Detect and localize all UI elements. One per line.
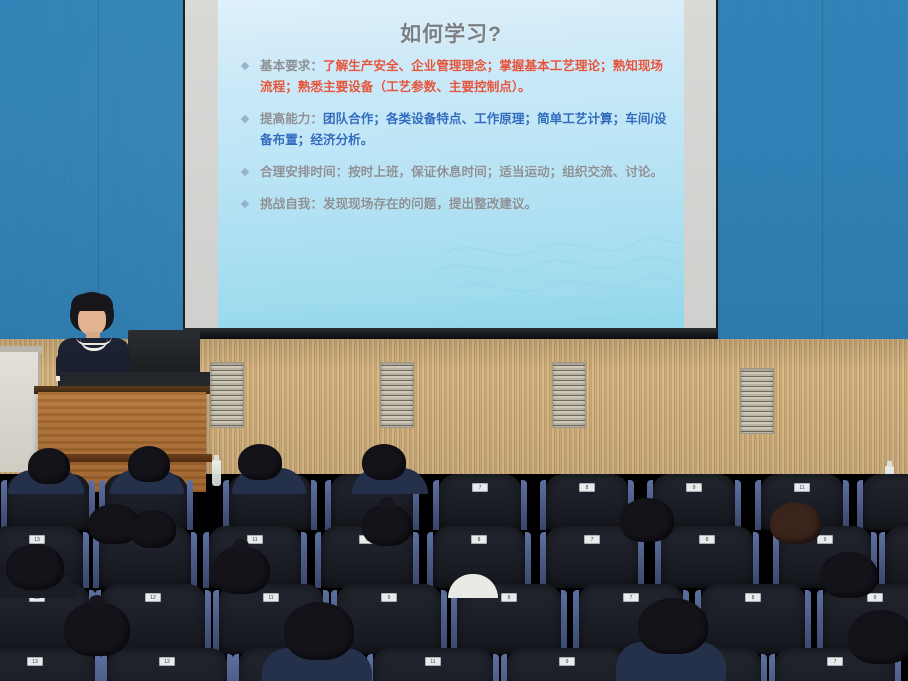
wall-seam (98, 0, 99, 341)
slide-bullet-1: 基本要求：了解生产安全、企业管理理念；掌握基本工艺理论；熟知现场流程；熟悉主要设… (236, 56, 670, 98)
seat-number-plate: 8 (579, 483, 595, 492)
seat-number-plate: 8 (471, 535, 487, 544)
vent-louver (552, 362, 586, 428)
seat-number-plate: 8 (501, 593, 517, 602)
seat-number-plate: 9 (686, 483, 702, 492)
seat[interactable]: 8 (660, 526, 754, 588)
seat-number-plate: 11 (794, 483, 810, 492)
bullet-2-label: 提高能力： (260, 112, 323, 126)
slide-bullet-4: 挑战自我：发现现场存在的问题，提出整改建议。 (236, 194, 670, 215)
attendee-head (820, 552, 878, 598)
diamond-bullet-icon (241, 115, 249, 123)
bullet-3-content: 按时上班，保证休息时间；适当运动；组织交流、讨论。 (348, 165, 663, 179)
seat-number-plate: 13 (27, 657, 43, 666)
bullet-4-label: 挑战自我： (260, 197, 323, 211)
seat-number-plate: 11 (263, 593, 279, 602)
bullet-1-label: 基本要求： (260, 59, 323, 73)
bullet-4-content: 发现现场存在的问题，提出整改建议。 (323, 197, 537, 211)
slide-bullet-list: 基本要求：了解生产安全、企业管理理念；掌握基本工艺理论；熟知现场流程；熟悉主要设… (236, 56, 670, 226)
vent-louver (740, 368, 774, 434)
seat-number-plate: 9 (817, 535, 833, 544)
seat-number-plate: 13 (29, 535, 45, 544)
slide-bullet-2: 提高能力：团队合作；各类设备特点、工作原理；简单工艺计算；车间/设备布置；经济分… (236, 109, 670, 151)
attendee-head (284, 602, 354, 660)
seat-number-plate: 8 (745, 593, 761, 602)
slide-title: 如何学习? (218, 18, 684, 48)
presenter-hair-fringe (71, 294, 113, 311)
seat[interactable]: 11 (372, 648, 494, 681)
attendee-head (770, 502, 822, 544)
seat[interactable]: 8 (700, 584, 806, 654)
bullet-3-label: 合理安排时间： (260, 165, 348, 179)
seat-number-plate: 12 (159, 657, 175, 666)
diamond-bullet-icon (241, 200, 249, 208)
computer-monitor (128, 330, 200, 376)
mist-watermark-icon (278, 270, 578, 330)
seat-number-plate: 8 (699, 535, 715, 544)
screen-bottom-bar (183, 328, 718, 339)
attendee-head (28, 448, 70, 484)
attendee-head (6, 544, 64, 590)
seat-number-plate: 11 (425, 657, 441, 666)
projected-slide: 如何学习? 基本要求：了解生产安全、企业管理理念；掌握基本工艺理论；熟知现场流程… (218, 0, 684, 330)
seat-number-plate: 7 (472, 483, 488, 492)
seat[interactable]: 8 (545, 474, 629, 530)
seat[interactable] (862, 474, 908, 530)
seat-number-plate: 9 (559, 657, 575, 666)
attendee-head (238, 444, 282, 480)
diamond-bullet-icon (241, 168, 249, 176)
attendee-head (848, 610, 908, 664)
seat-number-plate: 9 (381, 593, 397, 602)
attendee-head (64, 602, 130, 656)
audience-seating: 13 12 9 8 7 8 9 11 (0, 452, 908, 681)
attendee-head (638, 598, 708, 654)
seat-number-plate: 11 (247, 535, 263, 544)
attendee-head (130, 510, 176, 548)
vent-louver (210, 362, 244, 428)
seat-number-plate: 12 (145, 593, 161, 602)
vent-louver (380, 362, 414, 428)
water-bottle (212, 460, 221, 486)
slide-bullet-3: 合理安排时间：按时上班，保证休息时间；适当运动；组织交流、讨论。 (236, 162, 670, 183)
wall-seam (822, 0, 823, 341)
lecture-hall-scene: 如何学习? 基本要求：了解生产安全、企业管理理念；掌握基本工艺理论；熟知现场流程… (0, 0, 908, 681)
seat[interactable] (884, 526, 908, 588)
seat-number-plate: 7 (827, 657, 843, 666)
attendee-head (362, 504, 412, 546)
diamond-bullet-icon (241, 62, 249, 70)
seat-number-plate: 7 (623, 593, 639, 602)
seat[interactable]: 12 (106, 648, 228, 681)
seat[interactable]: 7 (438, 474, 522, 530)
seat-number-plate: 7 (584, 535, 600, 544)
attendee-head (362, 444, 406, 480)
attendee-head (620, 498, 674, 542)
seat[interactable]: 9 (506, 648, 628, 681)
attendee-head (128, 446, 170, 482)
seat-number-plate: 9 (867, 593, 883, 602)
attendee-head (212, 546, 270, 594)
